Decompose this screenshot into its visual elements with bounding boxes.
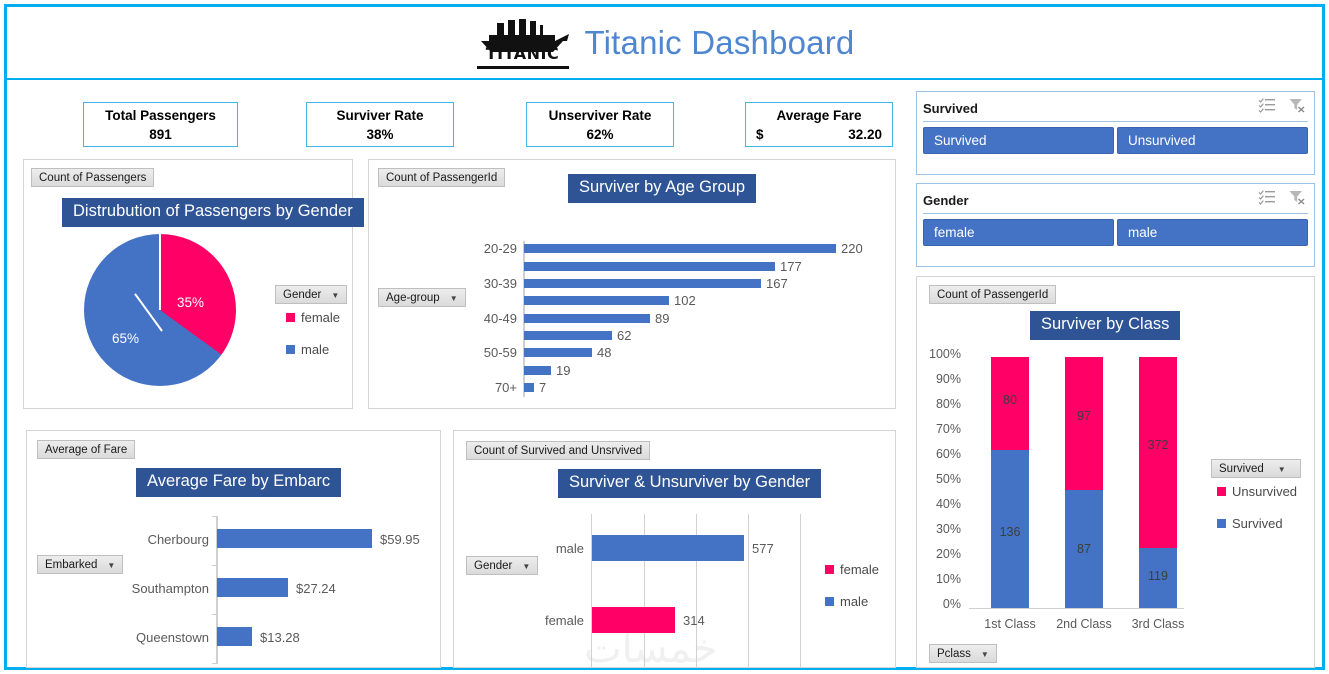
slicer-header: Gender: [923, 187, 1308, 214]
y-tick: 50%: [919, 472, 961, 486]
y-tick: 20%: [919, 547, 961, 561]
dashboard-root: TITANIC Titanic Dashboard Total Passenge…: [4, 4, 1325, 670]
legend-swatch-unsurvived: [1217, 487, 1226, 496]
kpi-value: 38%: [307, 125, 453, 145]
y-tick: 100%: [919, 347, 961, 361]
bar-male: [592, 535, 744, 561]
x-tick: 3rd Class: [1120, 617, 1196, 631]
pie-gap-top: [159, 234, 161, 310]
pie-chart: 35% 65%: [84, 234, 236, 386]
gridline: [748, 514, 749, 667]
panel-gender-pie: Count of Passengers Distrubution of Pass…: [23, 159, 353, 409]
chart-title-pie: Distrubution of Passengers by Gender: [62, 198, 364, 227]
segment-label-survived: 87: [1065, 542, 1103, 556]
slicer-survived[interactable]: Survived: [916, 91, 1315, 175]
y-tick: 10%: [919, 572, 961, 586]
legend-item-survived: Survived: [1217, 516, 1297, 531]
kpi-label: Surviver Rate: [307, 106, 453, 125]
brand: TITANIC Titanic Dashboard: [475, 14, 855, 72]
pie-label-male: 65%: [112, 331, 139, 346]
x-tick: 1st Class: [972, 617, 1048, 631]
segment-label-unsurvived: 97: [1065, 409, 1103, 423]
segment-label-survived: 119: [1139, 569, 1177, 583]
kpi-card-total-passengers: Total Passengers 891: [83, 102, 238, 147]
axis-tick: [212, 663, 216, 664]
bar-value-label: 62: [617, 328, 631, 343]
axis-tick-label: 50-59: [453, 345, 517, 360]
legend-item-female: female: [286, 310, 340, 325]
axis-tick-label: Southampton: [87, 581, 209, 596]
y-tick: 60%: [919, 447, 961, 461]
stacked-column-2nd-class: 97 87: [1065, 357, 1103, 608]
legend-item-male: male: [286, 342, 340, 357]
fare-bar-chart: Cherbourg Southampton Queenstown $59.95 …: [27, 431, 440, 667]
bar-value-label: $13.28: [260, 630, 300, 645]
slicer-header: Survived: [923, 95, 1308, 122]
panel-class-stacked: Count of PassengerId Surviver by Class 1…: [916, 276, 1315, 668]
gender-bar-chart: male female 577 314: [454, 431, 895, 667]
pie-label-female: 35%: [177, 295, 204, 310]
bar-value-label: 167: [766, 276, 788, 291]
bar-cherbourg: [217, 529, 372, 548]
legend-label-survived: Survived: [1232, 516, 1283, 531]
bar-48: [524, 348, 592, 357]
legend-item-unsurvived: Unsurvived: [1217, 484, 1297, 499]
multi-select-icon[interactable]: [1258, 97, 1276, 118]
legend-swatch-survived: [1217, 519, 1226, 528]
page-title: Titanic Dashboard: [585, 24, 855, 62]
bar-177: [524, 262, 775, 271]
kpi-value: $ 32.20: [746, 125, 892, 145]
y-tick: 90%: [919, 372, 961, 386]
bar-value-label: 89: [655, 311, 669, 326]
kpi-value: 891: [84, 125, 237, 145]
segment-label-unsurvived: 80: [991, 393, 1029, 407]
slicer-title: Survived: [923, 101, 978, 116]
axis-tick-label: 70+: [453, 380, 517, 395]
axis-field-pclass[interactable]: Pclass▼: [929, 644, 997, 663]
axis-tick: [212, 516, 216, 517]
slicer-item-male[interactable]: male: [1117, 219, 1308, 246]
pie-legend: female male: [286, 310, 340, 357]
segment-label-unsurvived: 372: [1139, 438, 1177, 452]
legend-swatch-male: [825, 597, 834, 606]
clear-filter-icon[interactable]: [1288, 97, 1306, 118]
bar-value-label: 314: [683, 613, 705, 628]
legend-swatch-male: [286, 345, 295, 354]
kpi-label: Unserviver Rate: [527, 106, 673, 125]
legend-field-survived[interactable]: Survived▼: [1211, 459, 1301, 478]
logo-wordmark: TITANIC: [475, 44, 571, 63]
slicer-item-survived[interactable]: Survived: [923, 127, 1114, 154]
legend-field-gender[interactable]: Gender▼: [275, 285, 347, 304]
bar-southampton: [217, 578, 288, 597]
legend-label-male: male: [840, 594, 868, 609]
y-tick: 80%: [919, 397, 961, 411]
bar-female: [592, 607, 675, 633]
kpi-card-surviver-rate: Surviver Rate 38%: [306, 102, 454, 147]
axis-tick-label: female: [494, 613, 584, 628]
bar-value-label: $27.24: [296, 581, 336, 596]
slicer-item-female[interactable]: female: [923, 219, 1114, 246]
kpi-card-unserviver-rate: Unserviver Rate 62%: [526, 102, 674, 147]
axis-tick: [212, 565, 216, 566]
category-axis: [969, 608, 1184, 609]
kpi-amount: 32.20: [848, 125, 882, 145]
kpi-card-average-fare: Average Fare $ 32.20: [745, 102, 893, 147]
bar-102: [524, 296, 669, 305]
bar-value-label: 220: [841, 241, 863, 256]
legend-label-unsurvived: Unsurvived: [1232, 484, 1297, 499]
panel-average-fare: Average of Fare Average Fare by Embarc E…: [26, 430, 441, 668]
y-tick: 40%: [919, 497, 961, 511]
bar-value-label: 48: [597, 345, 611, 360]
bar-220: [524, 244, 836, 253]
kpi-value: 62%: [527, 125, 673, 145]
bar-167: [524, 279, 761, 288]
clear-filter-icon[interactable]: [1288, 189, 1306, 210]
y-tick: 30%: [919, 522, 961, 536]
legend-swatch-female: [825, 565, 834, 574]
dashboard-header: TITANIC Titanic Dashboard: [7, 7, 1322, 80]
chevron-down-icon: ▼: [981, 650, 989, 659]
chevron-down-icon: ▼: [1278, 465, 1286, 474]
legend-item-female: female: [825, 562, 879, 577]
bar-89: [524, 314, 650, 323]
logo-rule: [477, 66, 569, 69]
slicer-items: Survived Unsurvived: [917, 122, 1314, 160]
legend-label-male: male: [301, 342, 329, 357]
bar-value-label: 177: [780, 259, 802, 274]
class-legend: Unsurvived Survived: [1217, 484, 1297, 531]
age-bar-chart: 220 177 167 102 89 62 48 19 7 20-29 30-3…: [369, 160, 895, 408]
kpi-label: Average Fare: [746, 106, 892, 125]
axis-tick-label: Cherbourg: [87, 532, 209, 547]
pivot-field-count-of-passengers[interactable]: Count of Passengers: [31, 168, 154, 187]
bar-7: [524, 383, 534, 392]
bar-19: [524, 366, 551, 375]
kpi-label: Total Passengers: [84, 106, 237, 125]
axis-tick: [212, 614, 216, 615]
segment-unsurvived: [1139, 357, 1177, 548]
legend-item-male: male: [825, 594, 879, 609]
bar-value-label: 19: [556, 363, 570, 378]
axis-tick-label: Queenstown: [87, 630, 209, 645]
panel-gender-counts: Count of Survived and Unsrvived Surviver…: [453, 430, 896, 668]
segment-label-survived: 136: [991, 525, 1029, 539]
axis-tick-label: 20-29: [453, 241, 517, 256]
bar-value-label: $59.95: [380, 532, 420, 547]
y-tick: 0%: [919, 597, 961, 611]
chevron-down-icon: ▼: [331, 291, 339, 300]
legend-label-female: female: [840, 562, 879, 577]
axis-tick-label: 30-39: [453, 276, 517, 291]
stacked-column-1st-class: 80 136: [991, 357, 1029, 608]
ship-icon: TITANIC: [475, 14, 571, 72]
slicer-item-unsurvived[interactable]: Unsurvived: [1117, 127, 1308, 154]
stacked-column-3rd-class: 372 119: [1139, 357, 1177, 608]
gridline: [800, 514, 801, 667]
kpi-currency-symbol: $: [756, 125, 764, 145]
multi-select-icon[interactable]: [1258, 189, 1276, 210]
legend-label-female: female: [301, 310, 340, 325]
y-tick: 70%: [919, 422, 961, 436]
bar-62: [524, 331, 612, 340]
axis-tick-label: 40-49: [453, 311, 517, 326]
gender-legend: female male: [825, 562, 879, 609]
bar-value-label: 102: [674, 293, 696, 308]
slicer-title: Gender: [923, 193, 969, 208]
panel-age-group: Count of PassengerId Surviver by Age Gro…: [368, 159, 896, 409]
slicer-items: female male: [917, 214, 1314, 252]
bar-queenstown: [217, 627, 252, 646]
axis-tick-label: male: [494, 541, 584, 556]
slicer-gender[interactable]: Gender: [916, 183, 1315, 267]
segment-unsurvived: [1065, 357, 1103, 490]
legend-swatch-female: [286, 313, 295, 322]
bar-value-label: 577: [752, 541, 774, 556]
x-tick: 2nd Class: [1046, 617, 1122, 631]
bar-value-label: 7: [539, 380, 546, 395]
